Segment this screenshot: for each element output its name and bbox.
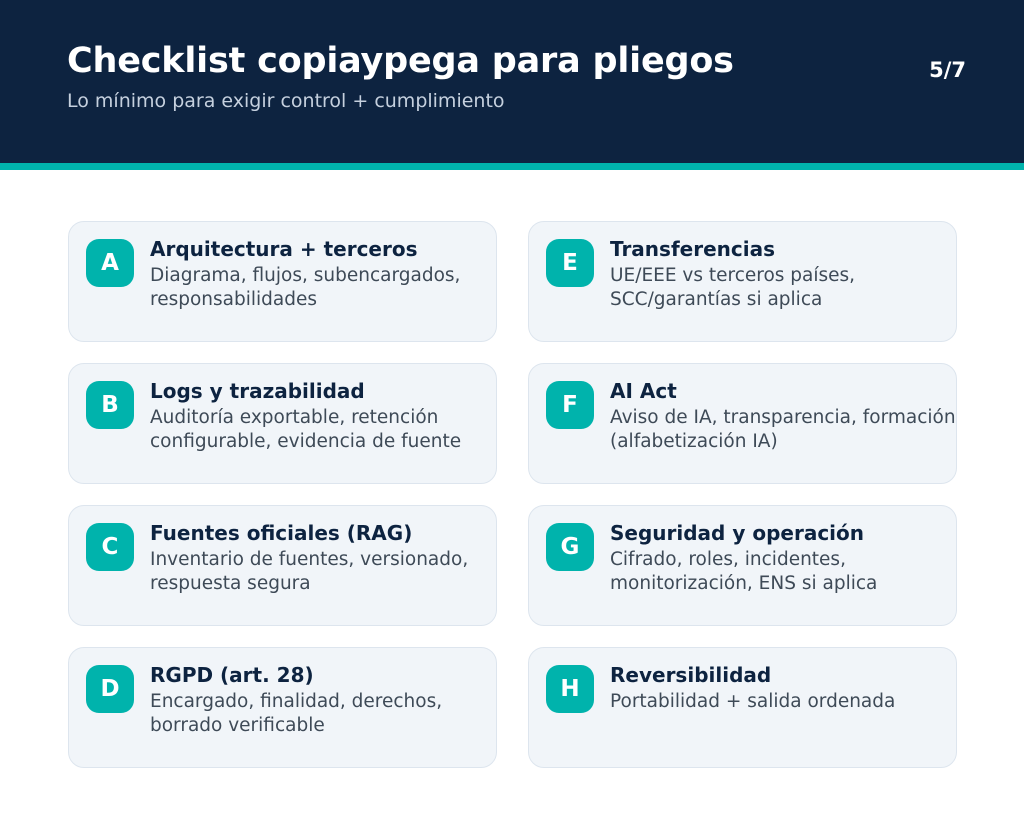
slide-header: Checklist copiaypega para pliegos Lo mín… [0, 0, 1024, 163]
checklist-card-d: D RGPD (art. 28) Encargado, finalidad, d… [68, 647, 497, 768]
card-body: RGPD (art. 28) Encargado, finalidad, der… [150, 663, 510, 739]
card-body: Fuentes oficiales (RAG) Inventario de fu… [150, 521, 510, 597]
slide-counter: 5/7 [929, 58, 966, 82]
page-subtitle: Lo mínimo para exigir control + cumplimi… [67, 90, 505, 112]
accent-divider [0, 163, 1024, 170]
card-title: Seguridad y operación [610, 521, 970, 546]
checklist-card-h: H Reversibilidad Portabilidad + salida o… [528, 647, 957, 768]
card-title: AI Act [610, 379, 970, 404]
card-body: Arquitectura + terceros Diagrama, flujos… [150, 237, 510, 313]
card-badge-d: D [86, 665, 134, 713]
card-badge-a: A [86, 239, 134, 287]
card-body: Reversibilidad Portabilidad + salida ord… [610, 663, 970, 714]
card-title: Logs y trazabilidad [150, 379, 510, 404]
card-badge-g: G [546, 523, 594, 571]
card-badge-c: C [86, 523, 134, 571]
card-description: Inventario de fuentes, versionado, respu… [150, 548, 498, 597]
page-title: Checklist copiaypega para pliegos [67, 41, 734, 81]
card-body: Seguridad y operación Cifrado, roles, in… [610, 521, 970, 597]
checklist-card-g: G Seguridad y operación Cifrado, roles, … [528, 505, 957, 626]
checklist-card-a: A Arquitectura + terceros Diagrama, fluj… [68, 221, 497, 342]
card-badge-b: B [86, 381, 134, 429]
card-body: Transferencias UE/EEE vs terceros países… [610, 237, 970, 313]
card-badge-h: H [546, 665, 594, 713]
card-description: Portabilidad + salida ordenada [610, 690, 958, 714]
checklist-card-f: F AI Act Aviso de IA, transparencia, for… [528, 363, 957, 484]
checklist-grid: A Arquitectura + terceros Diagrama, fluj… [68, 221, 956, 781]
checklist-card-b: B Logs y trazabilidad Auditoría exportab… [68, 363, 497, 484]
card-badge-f: F [546, 381, 594, 429]
card-body: AI Act Aviso de IA, transparencia, forma… [610, 379, 970, 455]
card-title: Transferencias [610, 237, 970, 262]
card-title: Reversibilidad [610, 663, 970, 688]
card-description: Auditoría exportable, retención configur… [150, 406, 498, 455]
card-description: Diagrama, flujos, subencargados, respons… [150, 264, 498, 313]
card-description: UE/EEE vs terceros países, SCC/garantías… [610, 264, 958, 313]
card-description: Cifrado, roles, incidentes, monitorizaci… [610, 548, 958, 597]
card-description: Aviso de IA, transparencia, formación (a… [610, 406, 958, 455]
card-title: Fuentes oficiales (RAG) [150, 521, 510, 546]
card-description: Encargado, finalidad, derechos, borrado … [150, 690, 498, 739]
card-title: RGPD (art. 28) [150, 663, 510, 688]
checklist-card-e: E Transferencias UE/EEE vs terceros país… [528, 221, 957, 342]
checklist-card-c: C Fuentes oficiales (RAG) Inventario de … [68, 505, 497, 626]
card-badge-e: E [546, 239, 594, 287]
card-body: Logs y trazabilidad Auditoría exportable… [150, 379, 510, 455]
card-title: Arquitectura + terceros [150, 237, 510, 262]
